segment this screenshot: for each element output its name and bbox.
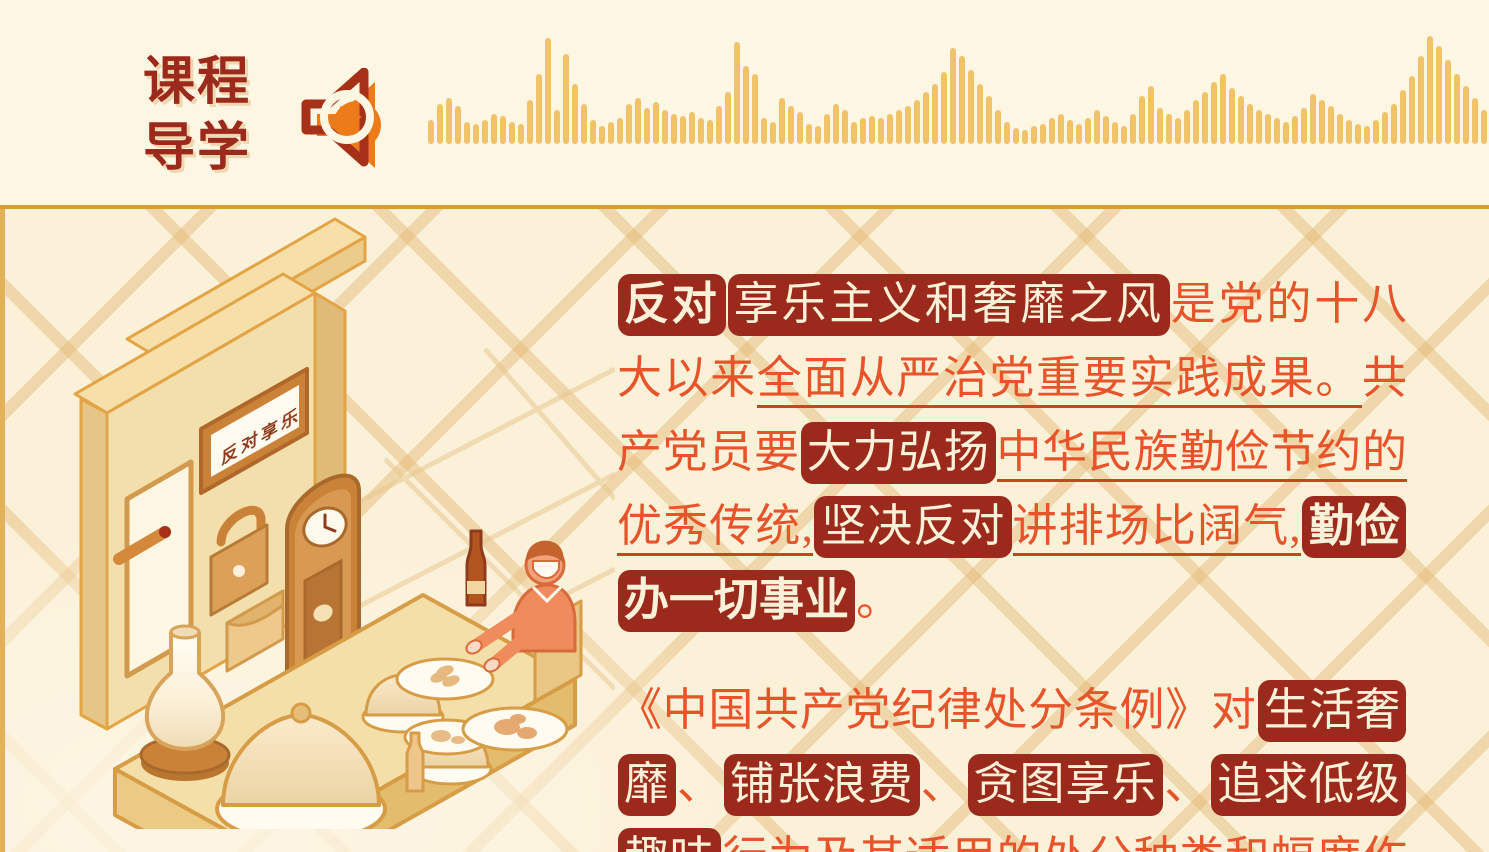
waveform-bar (1211, 82, 1217, 144)
waveform-bar (1184, 110, 1190, 144)
waveform-bar (428, 120, 434, 144)
waveform-bar (1058, 114, 1064, 144)
waveform-bar (1265, 114, 1271, 144)
waveform-bar (1328, 106, 1334, 144)
waveform-bar (932, 84, 938, 144)
header-band: 课程 导学 (0, 0, 1489, 209)
waveform-bar (1103, 116, 1109, 144)
highlighted-phrase: 坚决反对 (814, 496, 1012, 558)
waveform-bar (1274, 118, 1280, 144)
waveform-bar (1220, 74, 1226, 144)
body-text: 《中国共产党纪律处分条例》对 (617, 685, 1257, 735)
waveform-bar (860, 118, 866, 144)
waveform-bar (1472, 98, 1478, 144)
waveform-bar (869, 116, 875, 144)
waveform-bar (491, 114, 497, 144)
waveform-bar (446, 98, 452, 144)
waveform-bar (824, 114, 830, 144)
body-text: 、 (1164, 759, 1210, 809)
waveform-bar (1031, 126, 1037, 144)
waveform-bar (563, 54, 569, 144)
waveform-bar (590, 120, 596, 144)
audio-waveform[interactable] (428, 34, 1368, 144)
waveform-bar (1337, 114, 1343, 144)
waveform-bar (1364, 126, 1370, 144)
waveform-bar (1121, 126, 1127, 144)
waveform-bar (1157, 108, 1163, 144)
waveform-bar (941, 72, 947, 144)
waveform-bar (635, 98, 641, 144)
article-text: 反对享乐主义和奢靡之风是党的十八大以来全面从严治党重要实践成果。共产党员要大力弘… (617, 267, 1407, 852)
waveform-bar (1139, 96, 1145, 144)
waveform-bar (626, 104, 632, 144)
waveform-bar (914, 100, 920, 144)
waveform-bar (1130, 114, 1136, 144)
waveform-bar (1283, 122, 1289, 144)
waveform-bar (509, 122, 515, 144)
waveform-bar (851, 122, 857, 144)
waveform-bar (1454, 74, 1460, 144)
waveform-bar (1409, 76, 1415, 144)
waveform-bar (1238, 96, 1244, 144)
waveform-bar (536, 74, 542, 144)
waveform-bar (653, 102, 659, 144)
waveform-bar (545, 38, 551, 144)
waveform-bar (977, 84, 983, 144)
waveform-bar (464, 122, 470, 144)
waveform-bar (1400, 90, 1406, 144)
waveform-bar (716, 106, 722, 144)
waveform-bar (608, 122, 614, 144)
waveform-bar (896, 110, 902, 144)
waveform-bar (671, 114, 677, 144)
waveform-bar (1202, 92, 1208, 144)
highlighted-phrase: 大力弘扬 (801, 422, 996, 484)
waveform-bar (1382, 112, 1388, 144)
waveform-bar (455, 106, 461, 144)
highlighted-phrase: 铺张浪费 (724, 754, 920, 816)
waveform-bar (1067, 120, 1073, 144)
waveform-bar (761, 118, 767, 144)
waveform-bar (473, 124, 479, 144)
waveform-bar (1292, 116, 1298, 144)
waveform-bar (644, 108, 650, 144)
waveform-bar (1445, 60, 1451, 144)
waveform-bar (1346, 120, 1352, 144)
paragraph-1: 反对享乐主义和奢靡之风是党的十八大以来全面从严治党重要实践成果。共产党员要大力弘… (617, 267, 1407, 637)
waveform-bar (1175, 118, 1181, 144)
waveform-bar (482, 120, 488, 144)
waveform-bar (527, 100, 533, 144)
waveform-bar (1229, 88, 1235, 144)
waveform-bar (923, 92, 929, 144)
waveform-bar (689, 112, 695, 144)
waveform-bar (1355, 124, 1361, 144)
waveform-bar (617, 118, 623, 144)
paragraph-2: 《中国共产党纪律处分条例》对生活奢靡、铺张浪费、贪图享乐、追求低级趣味行为及其适… (617, 673, 1407, 852)
highlighted-phrase: 享乐主义和奢靡之风 (728, 274, 1170, 336)
body-text: 、 (677, 759, 723, 809)
waveform-bar (1076, 124, 1082, 144)
waveform-bar (662, 110, 668, 144)
waveform-bar (518, 124, 524, 144)
waveform-bar (743, 66, 749, 144)
waveform-bar (950, 48, 956, 144)
content-area: 反 对 享 乐 (0, 209, 1489, 852)
underlined-phrase: 行为及其适用的处分种类和幅度作出了规定。 (617, 833, 1407, 852)
waveform-bar (1391, 104, 1397, 144)
page-title-line-bottom: 导学 (143, 121, 283, 175)
waveform-bar (707, 120, 713, 144)
waveform-bar (815, 126, 821, 144)
speaker-megaphone-icon[interactable] (300, 68, 405, 180)
waveform-bar (581, 104, 587, 144)
waveform-bar (572, 84, 578, 144)
poster-root: 课程 导学 (0, 0, 1489, 852)
waveform-bar (959, 56, 965, 144)
waveform-bar (1256, 110, 1262, 144)
underlined-phrase: 讲排场比阔气, (1013, 501, 1301, 556)
page-title: 课程 导学 (143, 55, 283, 175)
waveform-bar (1094, 110, 1100, 144)
waveform-bar (725, 92, 731, 144)
waveform-bar (797, 112, 803, 144)
waveform-bar (1301, 108, 1307, 144)
body-text: 、 (921, 759, 967, 809)
underlined-phrase: 全面从严治党重要实践成果。 (757, 353, 1362, 408)
waveform-bar (968, 70, 974, 144)
waveform-bar (887, 114, 893, 144)
waveform-bar (1040, 124, 1046, 144)
highlighted-phrase: 贪图享乐 (968, 754, 1164, 816)
waveform-bar (698, 118, 704, 144)
waveform-bar (1193, 100, 1199, 144)
waveform-bar (1004, 122, 1010, 144)
waveform-bar (1148, 86, 1154, 144)
waveform-bar (500, 116, 506, 144)
highlighted-phrase: 反对 (618, 274, 726, 336)
waveform-bar (1013, 128, 1019, 144)
waveform-bar (1085, 118, 1091, 144)
waveform-bar (554, 110, 560, 144)
waveform-bar (1481, 110, 1487, 144)
waveform-bar (833, 104, 839, 144)
waveform-bar (1418, 56, 1424, 144)
waveform-bar (1112, 122, 1118, 144)
waveform-bar (770, 122, 776, 144)
waveform-bar (905, 106, 911, 144)
body-text: 。 (856, 575, 901, 625)
waveform-bar (788, 106, 794, 144)
waveform-bar (680, 116, 686, 144)
page-title-line-top: 课程 (143, 55, 283, 109)
waveform-bar (734, 42, 740, 144)
waveform-bar (437, 104, 443, 144)
waveform-bar (599, 126, 605, 144)
waveform-bar (1319, 100, 1325, 144)
waveform-bar (1463, 86, 1469, 144)
waveform-bar (752, 74, 758, 144)
waveform-bar (986, 96, 992, 144)
waveform-bar (842, 110, 848, 144)
waveform-bar (1166, 114, 1172, 144)
waveform-bar (878, 118, 884, 144)
waveform-bar (1373, 120, 1379, 144)
waveform-bar (1310, 94, 1316, 144)
waveform-bar (1427, 36, 1433, 144)
waveform-bar (1247, 104, 1253, 144)
waveform-bar (995, 110, 1001, 144)
waveform-bar (779, 98, 785, 144)
waveform-bar (806, 124, 812, 144)
waveform-bar (1436, 46, 1442, 144)
waveform-bar (1022, 130, 1028, 144)
waveform-bar (1049, 118, 1055, 144)
isometric-banquet-gate-illustration: 反 对 享 乐 (15, 209, 615, 829)
